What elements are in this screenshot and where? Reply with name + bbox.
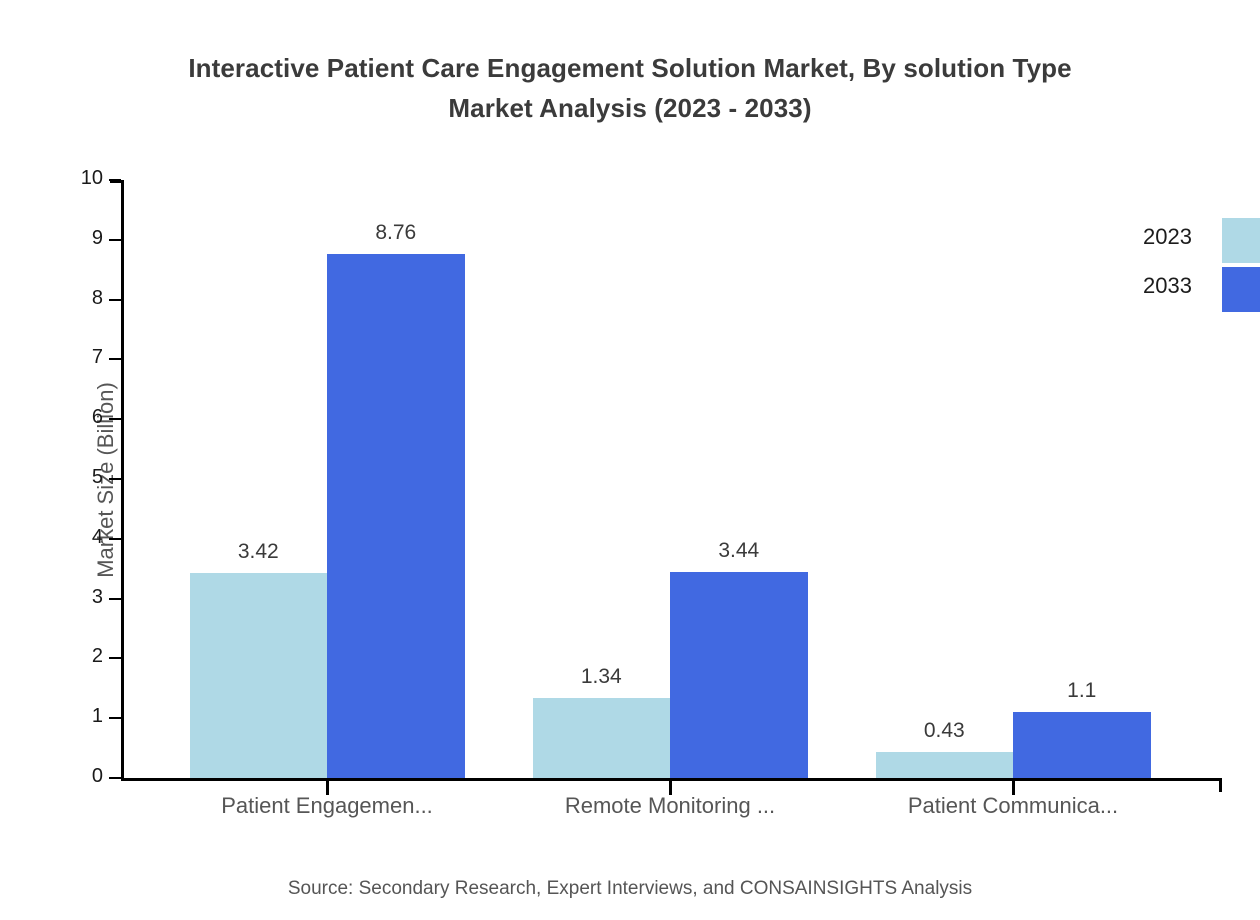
legend-label-2033: 2033 bbox=[1143, 273, 1192, 299]
legend-swatch-2033 bbox=[1222, 267, 1260, 312]
y-axis-tick-label: 2 bbox=[61, 645, 103, 668]
legend-item-2033[interactable]: 2033 bbox=[1130, 267, 1260, 316]
y-axis-tick-label: 5 bbox=[61, 466, 103, 489]
legend-item-2023[interactable]: 2023 bbox=[1130, 218, 1260, 267]
bar-2033-1[interactable] bbox=[670, 572, 808, 778]
y-axis-tick-label: 0 bbox=[61, 765, 103, 788]
y-axis-tick-label: 10 bbox=[61, 167, 103, 190]
x-axis-tick-label: Patient Communica... bbox=[863, 793, 1163, 819]
y-axis-tick bbox=[109, 478, 121, 480]
bar-value-label: 0.43 bbox=[874, 719, 1014, 743]
bar-2023-0[interactable] bbox=[190, 573, 328, 778]
x-axis-tick-label: Remote Monitoring ... bbox=[520, 793, 820, 819]
y-axis-tick-label: 3 bbox=[61, 586, 103, 609]
x-axis-tick-label: Patient Engagemen... bbox=[177, 793, 477, 819]
y-axis-tick bbox=[109, 418, 121, 420]
y-axis-tick-label: 1 bbox=[61, 705, 103, 728]
bar-value-label: 8.76 bbox=[326, 221, 466, 245]
chart-title: Interactive Patient Care Engagement Solu… bbox=[0, 48, 1260, 128]
bar-2033-2[interactable] bbox=[1013, 712, 1151, 778]
y-axis-tick bbox=[109, 717, 121, 719]
bar-value-label: 3.44 bbox=[669, 539, 809, 563]
bar-value-label: 3.42 bbox=[188, 540, 328, 564]
y-axis-line bbox=[121, 180, 124, 781]
bar-2023-1[interactable] bbox=[533, 698, 671, 778]
bar-2033-0[interactable] bbox=[327, 254, 465, 778]
bar-value-label: 1.34 bbox=[531, 665, 671, 689]
y-axis-tick-label: 8 bbox=[61, 287, 103, 310]
legend-swatch-2023 bbox=[1222, 218, 1260, 263]
x-axis-end-cap bbox=[1219, 778, 1222, 792]
chart-title-line-1: Interactive Patient Care Engagement Solu… bbox=[188, 53, 1071, 83]
bar-2023-2[interactable] bbox=[876, 752, 1014, 778]
y-axis-tick bbox=[109, 777, 121, 779]
y-axis-tick-label: 4 bbox=[61, 526, 103, 549]
y-axis-tick bbox=[109, 657, 121, 659]
y-axis-tick bbox=[109, 598, 121, 600]
legend-label-2023: 2023 bbox=[1143, 224, 1192, 250]
chart-title-line-2: Market Analysis (2023 - 2033) bbox=[0, 88, 1260, 128]
y-axis-tick-label: 7 bbox=[61, 346, 103, 369]
y-axis-tick bbox=[109, 179, 121, 181]
y-axis-tick bbox=[109, 239, 121, 241]
plot-area: 012345678910 3.428.761.343.440.431.1 bbox=[121, 180, 1222, 781]
y-axis-tick bbox=[109, 538, 121, 540]
y-axis-tick-label: 6 bbox=[61, 406, 103, 429]
bar-chart: Interactive Patient Care Engagement Solu… bbox=[0, 0, 1260, 920]
y-axis-tick-label: 9 bbox=[61, 227, 103, 250]
bar-value-label: 1.1 bbox=[1012, 679, 1152, 703]
legend: 2023 2033 bbox=[1130, 218, 1260, 316]
y-axis-tick bbox=[109, 299, 121, 301]
source-note: Source: Secondary Research, Expert Inter… bbox=[0, 878, 1260, 900]
y-axis-tick bbox=[109, 358, 121, 360]
